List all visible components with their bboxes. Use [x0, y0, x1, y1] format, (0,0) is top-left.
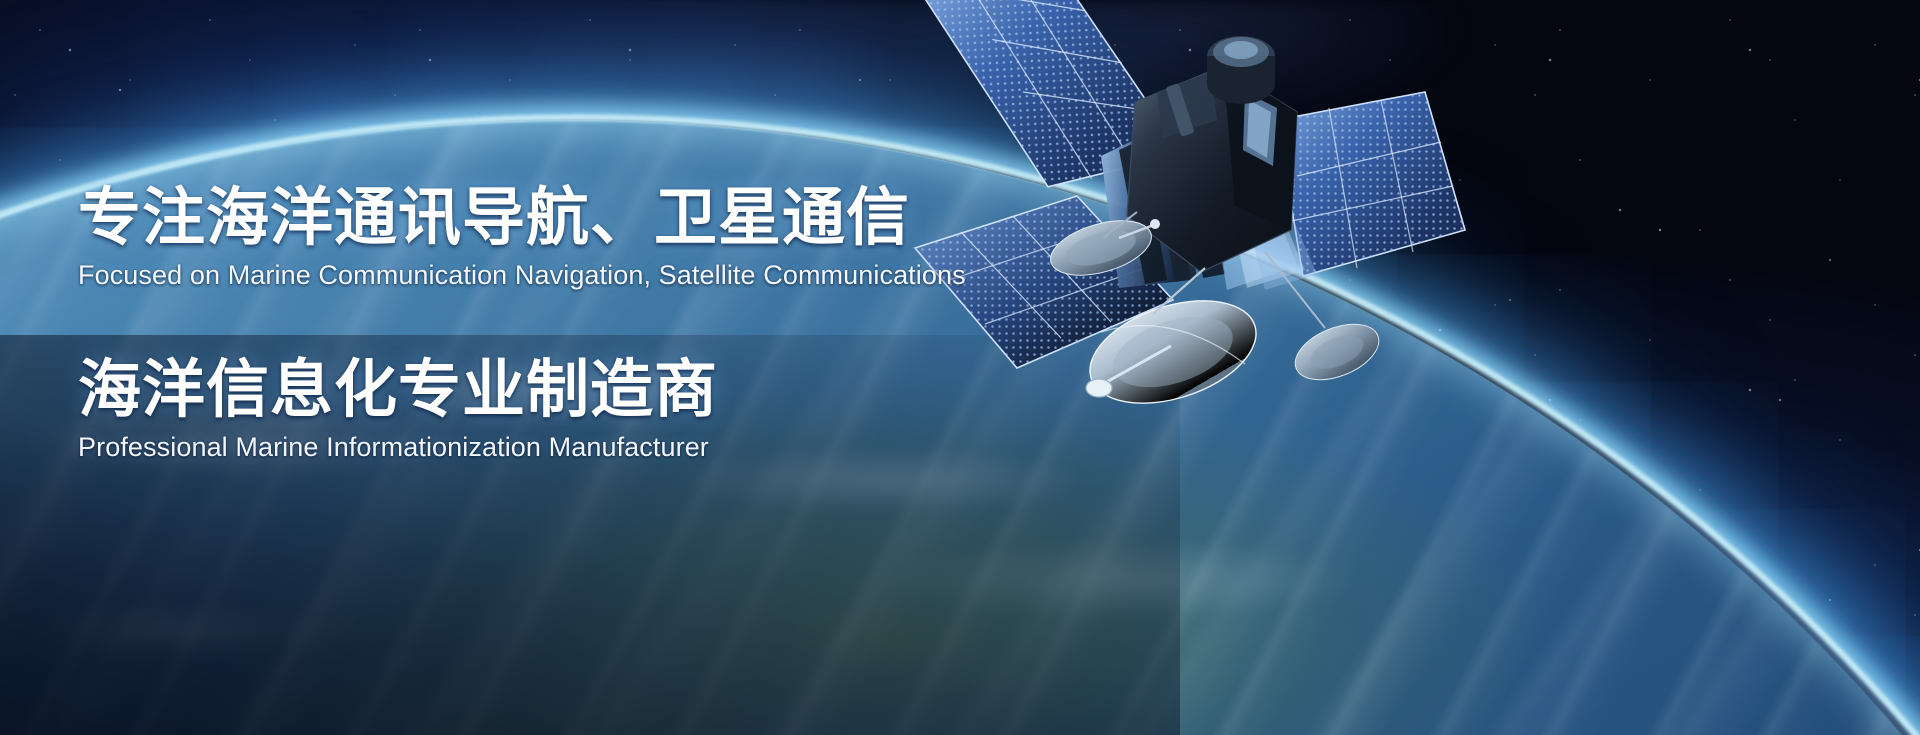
headline-block-1: 专注海洋通讯导航、卫星通信 Focused on Marine Communic… [78, 186, 1078, 290]
headline-primary-cn: 专注海洋通讯导航、卫星通信 [78, 186, 1078, 252]
satellite-top-module [1207, 36, 1275, 104]
headline-secondary-en: Professional Marine Informationization M… [78, 433, 1078, 463]
headline-primary-en: Focused on Marine Communication Navigati… [78, 261, 1078, 291]
satellite-small-dish-lower [1287, 313, 1387, 390]
headline-secondary-cn: 海洋信息化专业制造商 [78, 358, 1078, 424]
headline-block-2: 海洋信息化专业制造商 Professional Marine Informati… [78, 358, 1078, 462]
hero-banner: 专注海洋通讯导航、卫星通信 Focused on Marine Communic… [0, 0, 1920, 735]
banner-copy: 专注海洋通讯导航、卫星通信 Focused on Marine Communic… [78, 186, 1078, 462]
copy-spacer [78, 290, 1078, 358]
